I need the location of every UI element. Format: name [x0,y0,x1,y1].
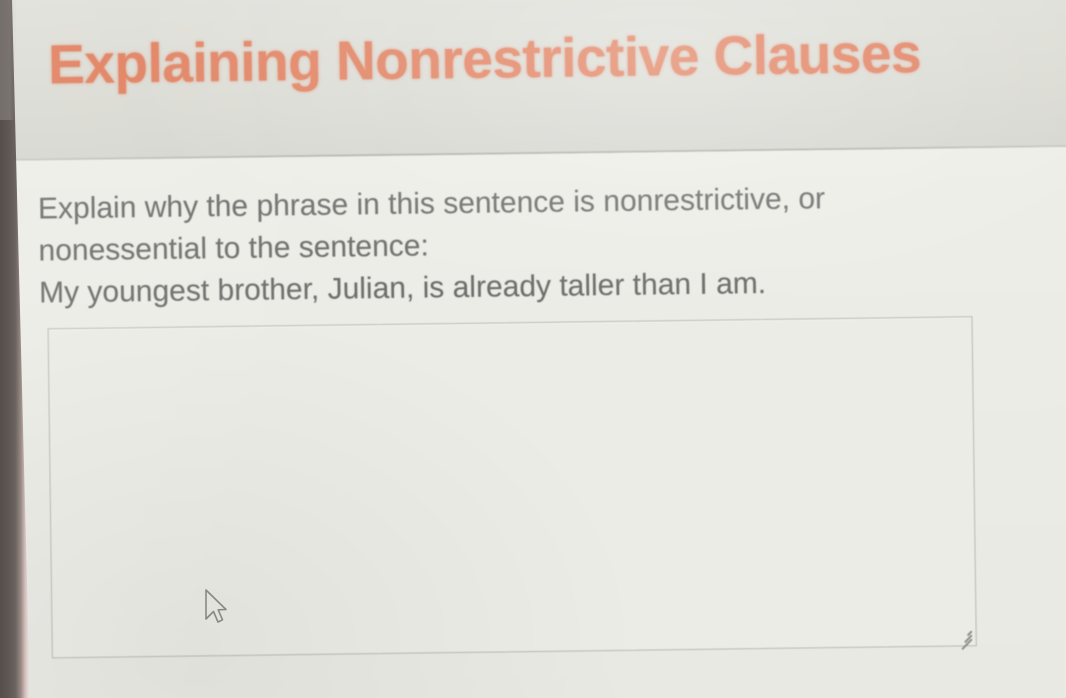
page-surface: Explaining Nonrestrictive Clauses Explai… [0,0,1066,698]
resize-grip-icon[interactable] [956,625,973,642]
photo-left-edge-highlight [0,0,16,120]
answer-textarea[interactable] [48,316,977,658]
screenshot-root: Explaining Nonrestrictive Clauses Explai… [0,0,1066,698]
instruction-text: Explain why the phrase in this sentence … [38,176,999,273]
body-area: Explain why the phrase in this sentence … [0,147,1066,698]
arrow-pointer-cursor [203,588,229,628]
page-title: Explaining Nonrestrictive Clauses [48,21,922,96]
